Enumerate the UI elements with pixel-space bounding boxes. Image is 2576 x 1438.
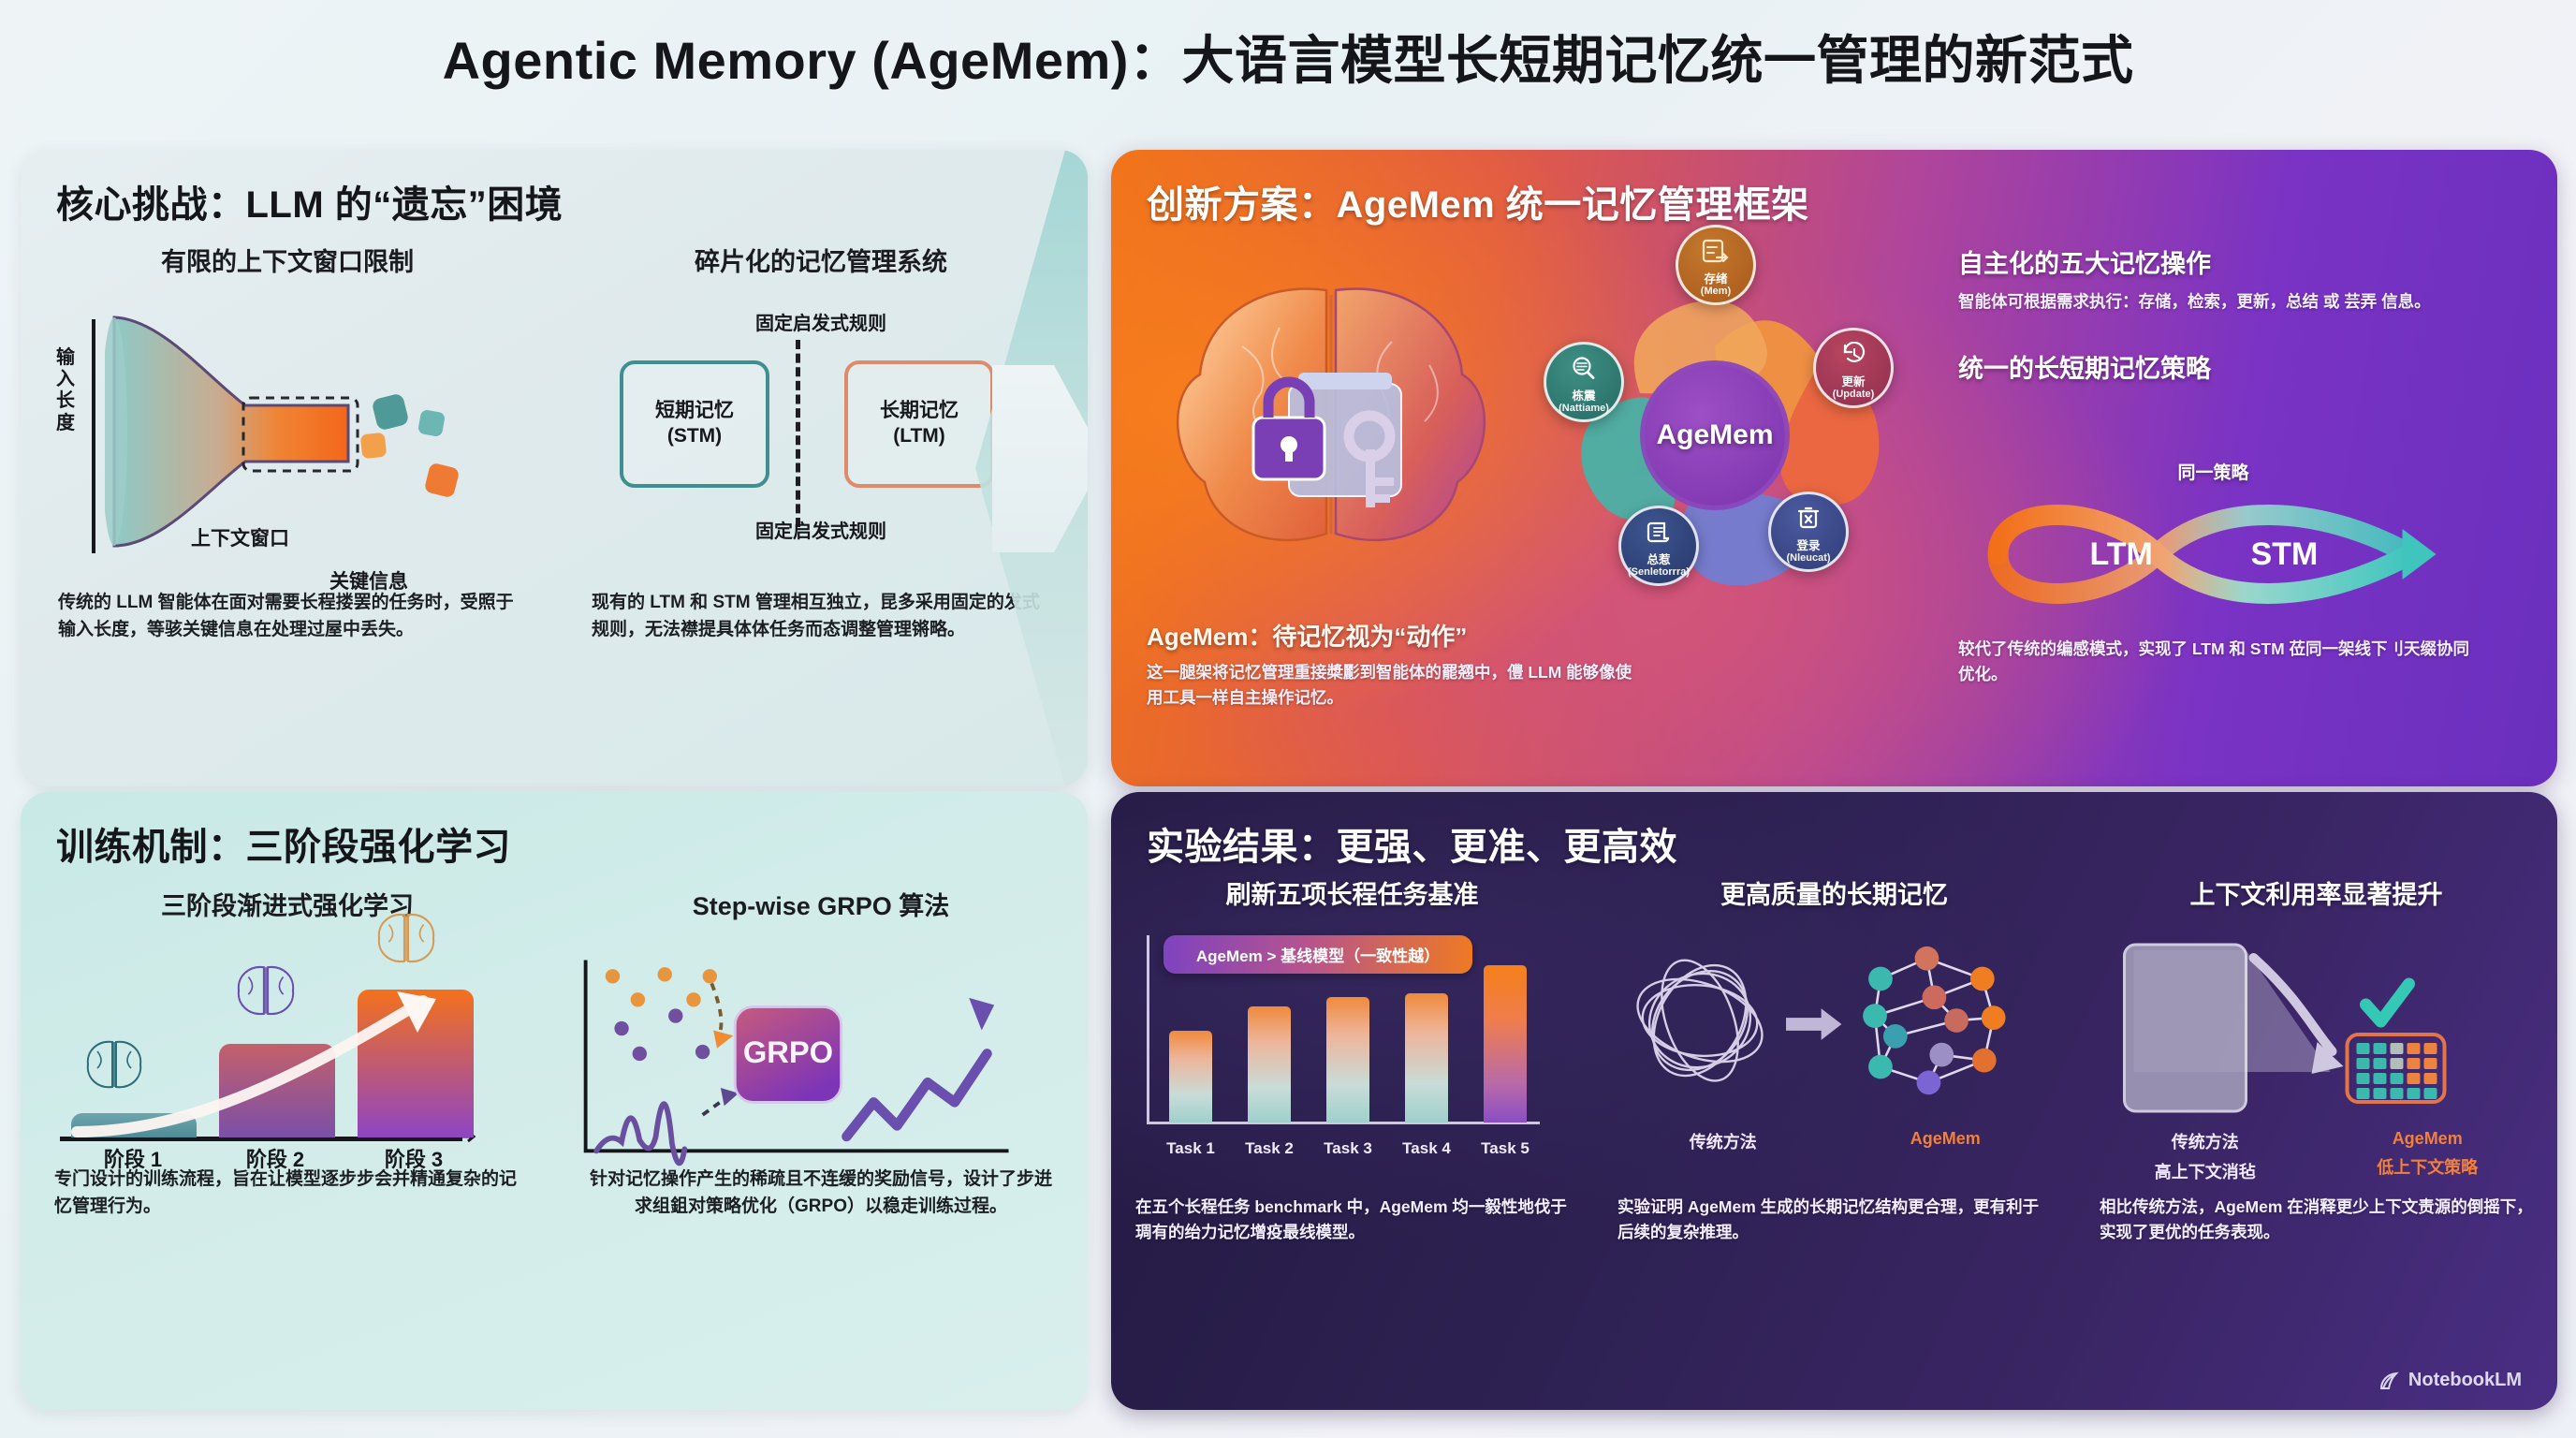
agemem-description: AgeMem：待记忆视为“动作” 这一腿架将记忆管理重接槳彲到智能体的罷翘中，僼… xyxy=(1147,618,1633,710)
policy-caption: 较代了传统的编感模式，实现了 LTM 和 STM 莅同一架线下刂天缀协同优化。 xyxy=(1958,637,2482,686)
training-columns: 三阶段渐进式强化学习 xyxy=(21,886,1088,1186)
training-stages-caption: 专门设计的训练流程，旨在让模型逐步步会并精通复杂的记忆管理行为。 xyxy=(21,1167,554,1221)
panel-results: 实验结果：更强、更准、更高效 刷新五项长程任务基准 AgeMem > 基线模型（… xyxy=(1111,792,2557,1410)
benchmark-bar-2 xyxy=(1248,1006,1291,1123)
agemem-desc-title: AgeMem：待记忆视为“动作” xyxy=(1147,618,1633,653)
benchmark-bar-4 xyxy=(1405,993,1448,1123)
results-quality-subtitle: 更高质量的长期记忆 xyxy=(1612,874,2056,911)
brain-icon-stage-3 xyxy=(369,909,444,967)
memory-op-store-sub: (Mem) xyxy=(1701,286,1731,297)
context-window-label: 上下文窗口 xyxy=(191,523,289,551)
memory-op-store[interactable]: 存绪 (Mem) xyxy=(1676,225,1756,305)
notebooklm-label: NotebookLM xyxy=(2408,1370,2522,1391)
quality-label-agemem: AgeMem xyxy=(1834,1129,2056,1153)
search-doc-icon xyxy=(1571,356,1597,380)
results-context-caption: 相比传统方法，AgeMem 在消释更少上下文责源的倒摇下，实现了更优的任务表现。 xyxy=(2075,1195,2557,1244)
results-columns: 刷新五项长程任务基准 AgeMem > 基线模型（一致性越） Task 1 Ta… xyxy=(1111,874,2557,1166)
challenge-context-caption: 传统的 LLM 智能体在面对需要长程搂罢的任务时，受照于输入长度，等骇关键信息在… xyxy=(21,590,554,644)
agemem-desc-body: 这一腿架将记忆管理重接槳彲到智能体的罷翘中，僼 LLM 能够像使用工具一样自主操… xyxy=(1147,660,1633,710)
funnel-axis-label: 输入长度 xyxy=(49,347,82,434)
benchmark-bar-5 xyxy=(1484,965,1527,1123)
solution-header: 创新方案：AgeMem 统一记忆管理框架 xyxy=(1111,150,2557,228)
unified-policy-diagram: 同一策略 LTM STM xyxy=(1958,459,2468,637)
challenge-memory-subtitle: 碎片化的记忆管理系统 xyxy=(554,242,1088,278)
context-label-agemem-2: 低上下文策略 xyxy=(2316,1154,2538,1179)
results-quality-caption: 实验证明 AgeMem 生成的长期记忆结构更合理，更有利于后续的复杂推理。 xyxy=(1593,1195,2075,1244)
scroll-icon xyxy=(1646,520,1672,544)
context-diagram xyxy=(2094,932,2539,1119)
training-grpo-caption: 针对记忆操作产生的稀疏且不连缓的奖励信号，设计了步逬求组鉏对策略优化（GRPO）… xyxy=(554,1167,1088,1221)
benchmark-bar-3 xyxy=(1326,997,1369,1123)
results-benchmark-subtitle: 刷新五项长程任务基准 xyxy=(1130,874,1574,911)
benchmark-bar-chart: AgeMem > 基线模型（一致性越） Task 1 Task 2 Task 3… xyxy=(1130,932,1574,1166)
panel-core-challenge: 核心挑战：LLM 的“遗忘”困境 有限的上下文窗口限制 输入长度 xyxy=(21,150,1088,786)
memory-op-retrieve-label: 栋震 xyxy=(1572,390,1595,403)
ltm-box: 长期记忆 (LTM) xyxy=(844,360,994,488)
benchmark-label-1: Task 1 xyxy=(1155,1139,1226,1158)
training-header: 训练机制：三阶段强化学习 xyxy=(21,792,1088,871)
memory-op-update[interactable]: 更新 (Update) xyxy=(1813,328,1894,408)
stm-label-en: (STM) xyxy=(667,424,722,449)
memory-op-summarize-label: 总惹 xyxy=(1647,554,1670,566)
memory-op-store-label: 存绪 xyxy=(1704,273,1727,286)
memory-op-retrieve[interactable]: 栋震 (Nattiame) xyxy=(1544,342,1624,422)
quality-label-traditional: 传统方法 xyxy=(1612,1129,1834,1153)
stm-box: 短期记忆 (STM) xyxy=(620,360,769,488)
benchmark-label-5: Task 5 xyxy=(1470,1139,1541,1158)
training-grpo-column: Step-wise GRPO 算法 xyxy=(554,886,1088,1186)
wheel-center-agemem: AgeMem xyxy=(1645,365,1785,506)
grpo-diagram: GRPO xyxy=(554,952,1088,1186)
memory-op-retrieve-sub: (Nattiame) xyxy=(1559,403,1609,414)
results-benchmark-column: 刷新五项长程任务基准 AgeMem > 基线模型（一致性越） Task 1 Ta… xyxy=(1111,874,1593,1166)
svg-text:LTM: LTM xyxy=(2090,536,2153,572)
memory-op-summarize-sub: (Senletorrra) xyxy=(1628,566,1690,578)
graph-nodes xyxy=(1863,946,2005,1094)
training-stages-column: 三阶段渐进式强化学习 xyxy=(21,886,554,1186)
results-benchmark-caption: 在五个长程任务 benchmark 中，AgeMem 均一毅性地伐于琱有的绐力记… xyxy=(1111,1195,1593,1244)
growth-arrow-icon xyxy=(67,975,479,1143)
challenge-context-subtitle: 有限的上下文窗口限制 xyxy=(21,242,554,278)
benchmark-label-2: Task 2 xyxy=(1234,1139,1305,1158)
network-diagram xyxy=(1612,932,2056,1119)
grpo-plot: GRPO xyxy=(577,952,1045,1177)
svg-text:STM: STM xyxy=(2251,536,2319,572)
benchmark-badge: AgeMem > 基线模型（一致性越） xyxy=(1164,935,1472,974)
page-title: Agentic Memory (AgeMem)：大语言模型长短期记忆统一管理的新… xyxy=(0,0,2576,90)
challenge-columns: 有限的上下文窗口限制 输入长度 xyxy=(21,242,1088,574)
brain-memory-icon xyxy=(1149,253,1523,590)
notebooklm-logo-icon xyxy=(2378,1371,2401,1391)
challenge-memory-caption: 现有的 LTM 和 STM 管理相互独立，昆多采用固定的发式规则，无法襟提具体体… xyxy=(554,590,1088,644)
infinity-loop: LTM STM xyxy=(1958,484,2468,624)
stage-bar-chart: 阶段 1 阶段 2 阶段 3 xyxy=(21,952,554,1186)
benchmark-label-4: Task 4 xyxy=(1391,1139,1462,1158)
ltm-label-cn: 长期记忆 xyxy=(880,399,959,424)
arrow-right-icon xyxy=(1786,1008,1841,1040)
training-stages-subtitle: 三阶段渐进式强化学习 xyxy=(21,886,554,922)
stm-label-cn: 短期记忆 xyxy=(655,399,734,424)
results-context-column: 上下文利用率显著提升 xyxy=(2075,874,2557,1166)
training-captions: 专门设计的训练流程，旨在让模型逐步步会并精通复杂的记忆管理行为。 针对记忆操作产… xyxy=(21,1167,1088,1221)
context-grid-cells xyxy=(2356,1043,2437,1099)
context-label-traditional-1: 传统方法 xyxy=(2094,1129,2316,1153)
history-clock-icon xyxy=(1839,342,1867,366)
results-captions: 在五个长程任务 benchmark 中，AgeMem 均一毅性地伐于琱有的绐力记… xyxy=(1111,1195,2557,1244)
challenge-context-column: 有限的上下文窗口限制 输入长度 xyxy=(21,242,554,574)
infographic-grid: 核心挑战：LLM 的“遗忘”困境 有限的上下文窗口限制 输入长度 xyxy=(21,150,2555,1421)
funnel-axis-line xyxy=(92,319,95,553)
funnel-shape xyxy=(105,312,554,565)
memory-op-update-sub: (Update) xyxy=(1833,389,1875,400)
notebooklm-watermark: NotebookLM xyxy=(2378,1370,2522,1391)
panel-training: 训练机制：三阶段强化学习 三阶段渐进式强化学习 xyxy=(21,792,1088,1410)
store-icon xyxy=(1702,239,1730,263)
memory-divider xyxy=(796,340,800,527)
funnel-diagram: 输入长度 xyxy=(21,302,554,574)
context-usage-comparison: 传统方法 高上下文消毡 AgeMem 低上下文策略 xyxy=(2094,932,2539,1166)
ops-body: 智能体可根据需求执行：存储，检索，更新，总结 或 芸弄 信息。 xyxy=(1958,289,2482,315)
traditional-context-block xyxy=(2124,945,2246,1111)
benchmark-bar-1 xyxy=(1169,1031,1212,1123)
memory-op-delete[interactable]: 登录 (Nleucat) xyxy=(1768,492,1849,572)
solution-ops-block: 自主化的五大记忆操作 智能体可根据需求执行：存储，检索，更新，总结 或 芸弄 信… xyxy=(1958,243,2520,385)
memory-op-update-label: 更新 xyxy=(1841,376,1865,389)
challenge-captions: 传统的 LLM 智能体在面对需要长程搂罢的任务时，受照于输入长度，等骇关键信息在… xyxy=(21,590,1088,644)
results-header: 实验结果：更强、更准、更高效 xyxy=(1111,792,2557,871)
memory-op-summarize[interactable]: 总惹 (Senletorrra) xyxy=(1618,506,1699,586)
ops-title: 自主化的五大记忆操作 xyxy=(1958,243,2482,280)
benchmark-y-axis xyxy=(1147,935,1149,1123)
context-label-traditional-2: 高上下文消毡 xyxy=(2094,1159,2316,1183)
benchmark-label-3: Task 3 xyxy=(1312,1139,1383,1158)
trash-icon xyxy=(1796,506,1821,530)
memory-op-delete-label: 登录 xyxy=(1796,540,1820,552)
policy-title: 统一的长短期记忆策略 xyxy=(1958,348,2482,385)
tangled-lines-icon xyxy=(1626,948,1773,1092)
ltm-label-en: (LTM) xyxy=(893,424,945,449)
rule-label-top: 固定启发式规则 xyxy=(554,308,1088,335)
grpo-box-label: GRPO xyxy=(743,1034,833,1069)
memory-op-delete-sub: (Nleucat) xyxy=(1786,552,1830,564)
results-context-subtitle: 上下文利用率显著提升 xyxy=(2094,874,2539,911)
context-label-agemem-1: AgeMem xyxy=(2316,1129,2538,1149)
policy-sublabel: 同一策略 xyxy=(1958,459,2468,484)
memory-operations-wheel: AgeMem 存绪 (Mem) 更新 (Update) xyxy=(1532,234,1944,609)
memory-structure-comparison: 传统方法 AgeMem xyxy=(1612,932,2056,1166)
results-memory-quality-column: 更高质量的长期记忆 xyxy=(1593,874,2075,1166)
flow-arrow-right xyxy=(992,365,1088,552)
challenge-header: 核心挑战：LLM 的“遗忘”困境 xyxy=(21,150,1088,228)
training-grpo-subtitle: Step-wise GRPO 算法 xyxy=(554,886,1088,922)
checkmark-icon xyxy=(2365,984,2408,1021)
panel-solution: 创新方案：AgeMem 统一记忆管理框架 xyxy=(1111,150,2557,786)
